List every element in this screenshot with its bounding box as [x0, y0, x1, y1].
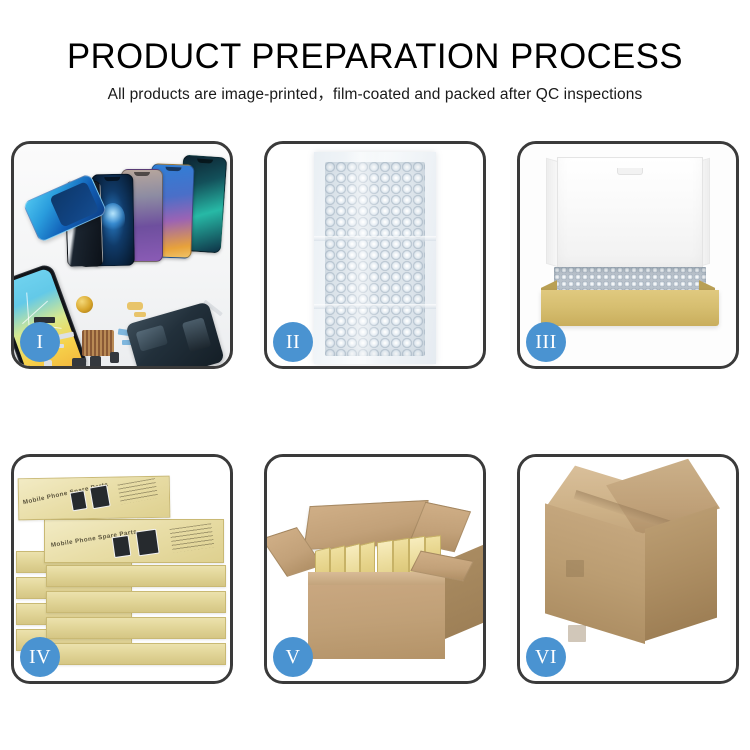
stacked-box — [46, 591, 226, 613]
part-button-module — [110, 352, 119, 363]
bubble-wrapped-contents — [554, 267, 706, 292]
notch-icon — [165, 167, 181, 172]
step-1-illustration: I — [14, 144, 230, 366]
lid-tab — [617, 168, 643, 175]
page-title: PRODUCT PREPARATION PROCESS — [4, 36, 747, 78]
page-subtitle: All products are image-printed，film-coat… — [0, 84, 750, 106]
step-badge-5: V — [273, 637, 313, 677]
carton-face-right — [645, 506, 717, 641]
step-panel-6: VI — [517, 454, 739, 684]
bubble-wrap-sheet — [314, 152, 436, 364]
part-vibrator — [90, 356, 101, 366]
wrap-seam — [314, 304, 436, 309]
step-2-illustration: II — [267, 144, 483, 366]
box-phone-image — [89, 484, 111, 509]
box-phone-image — [70, 490, 88, 511]
notch-icon — [104, 177, 120, 181]
step-badge-6: VI — [526, 637, 566, 677]
step-badge-2: II — [273, 322, 313, 362]
carton-handle-tab — [566, 560, 584, 577]
step-3-illustration: III — [520, 144, 736, 366]
part-flex-cable — [134, 312, 146, 317]
wrap-highlight — [344, 152, 378, 364]
header: PRODUCT PREPARATION PROCESS All products… — [0, 36, 750, 106]
box-lid — [557, 157, 703, 274]
box-phone-image — [135, 529, 159, 557]
printed-box-top: Mobile Phone Spare Parts — [18, 476, 171, 521]
carton-front-face — [308, 585, 445, 659]
carton-handle-tab — [568, 625, 586, 642]
notch-icon — [197, 159, 213, 164]
step-panel-2: II — [264, 141, 486, 369]
product-preparation-infographic: PRODUCT PREPARATION PROCESS All products… — [0, 0, 750, 750]
stacked-box — [46, 617, 226, 639]
part-screw — [215, 365, 219, 366]
stacked-box — [46, 643, 226, 665]
part-camera-module — [72, 358, 86, 366]
kraft-box-base — [541, 290, 719, 326]
step-badge-1: I — [20, 322, 60, 362]
box-phone-image — [112, 535, 132, 558]
part-speaker-coil — [76, 296, 93, 313]
wrap-seam — [314, 236, 436, 241]
part-flex-cable — [127, 302, 143, 310]
step-panel-4: Mobile Phone Spare Parts Mobile Phone Sp… — [11, 454, 233, 684]
stacked-box — [46, 565, 226, 587]
part-logic-board — [82, 330, 114, 356]
step-badge-4: IV — [20, 637, 60, 677]
step-5-illustration: V — [267, 457, 483, 681]
step-panel-1: I — [11, 141, 233, 369]
printed-box-lower: Mobile Phone Spare Parts — [44, 519, 224, 563]
step-panel-3: III — [517, 141, 739, 369]
step-badge-3: III — [526, 322, 566, 362]
step-4-illustration: Mobile Phone Spare Parts Mobile Phone Sp… — [14, 457, 230, 681]
process-steps-grid: I II — [11, 141, 739, 684]
notch-icon — [134, 172, 150, 176]
step-panel-5: V — [264, 454, 486, 684]
step-6-illustration: VI — [520, 457, 736, 681]
